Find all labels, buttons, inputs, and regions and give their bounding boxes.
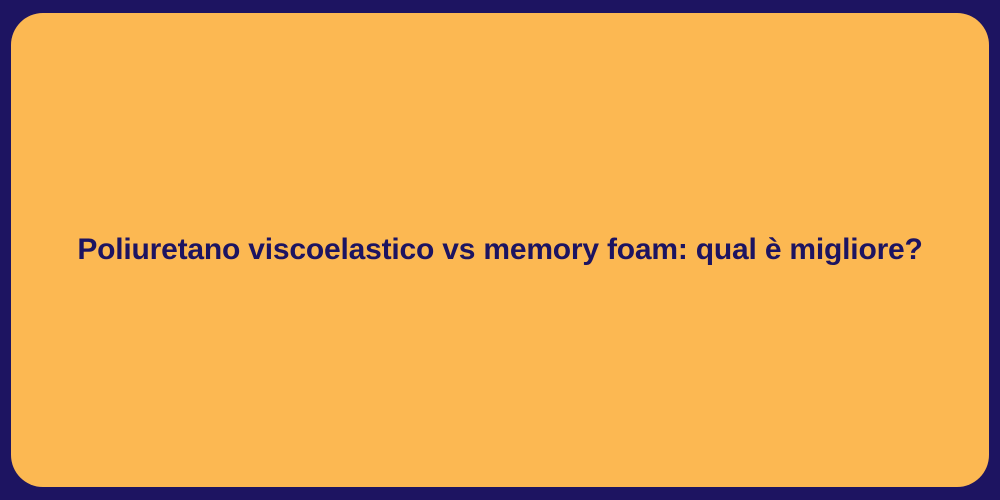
page-title: Poliuretano viscoelastico vs memory foam… bbox=[77, 231, 922, 269]
title-card: Poliuretano viscoelastico vs memory foam… bbox=[11, 13, 989, 487]
page-background: Poliuretano viscoelastico vs memory foam… bbox=[0, 0, 1000, 500]
